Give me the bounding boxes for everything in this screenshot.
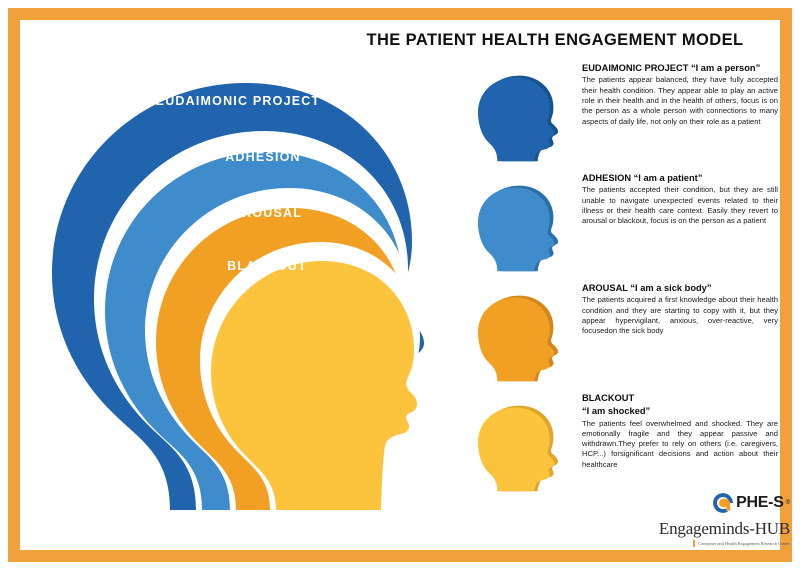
head-profile-icon [478,182,570,274]
stage-heading: ADHESION “I am a patient” [582,172,778,184]
engageminds-hub-subtitle: Consumer and Health Engagement Research … [698,541,790,546]
phes-registered-mark: ® [786,500,790,506]
stage-heading-line1: BLACKOUT [582,392,778,404]
diagram-label-eudaimonic: EUDAIMONIC PROJECT [123,94,353,108]
stage-body: The patients feel overwhelmed and shocke… [582,419,778,471]
stage-body: The patients appear balanced, they have … [582,75,778,127]
stage-item-arousal: AROUSAL “I am a sick body” The patients … [470,282,782,392]
head-profile-icon [478,402,570,494]
orange-tick-icon [693,540,695,547]
stage-item-blackout: BLACKOUT “I am shocked” The patients fee… [470,392,782,502]
head-profile-icon [478,292,570,384]
head-profile-icon [478,72,570,164]
diagram-label-arousal: AROUSAL [152,206,382,220]
stage-heading: AROUSAL “I am a sick body” [582,282,778,294]
stage-body: The patients acquired a first knowledge … [582,295,778,336]
logo-block: PHE-S ® Engageminds-HUB Consumer and Hea… [640,492,790,547]
stage-body: The patients accepted their condition, b… [582,185,778,226]
page-title: THE PATIENT HEALTH ENGAGEMENT MODEL [330,31,780,50]
stage-item-eudaimonic: EUDAIMONIC PROJECT “I am a person” The p… [470,62,782,172]
stage-text-adhesion: ADHESION “I am a patient” The patients a… [582,172,778,227]
poster-canvas: THE PATIENT HEALTH ENGAGEMENT MODEL [0,0,800,570]
engageminds-hub-subtitle-row: Consumer and Health Engagement Research … [640,540,790,547]
stage-list: EUDAIMONIC PROJECT “I am a person” The p… [470,62,782,502]
nested-head-profile-diagram: EUDAIMONIC PROJECT ADHESION AROUSAL BLAC… [20,55,480,515]
diagram-label-adhesion: ADHESION [148,150,378,164]
stage-text-arousal: AROUSAL “I am a sick body” The patients … [582,282,778,337]
engageminds-hub-wordmark: Engageminds-HUB [640,519,790,539]
phes-logo: PHE-S ® [640,492,790,514]
phes-head-icon [712,492,734,514]
stage-text-blackout: BLACKOUT “I am shocked” The patients fee… [582,392,778,470]
stage-text-eudaimonic: EUDAIMONIC PROJECT “I am a person” The p… [582,62,778,127]
diagram-label-blackout: BLACKOUT [152,259,382,273]
stage-heading: EUDAIMONIC PROJECT “I am a person” [582,62,778,74]
stage-item-adhesion: ADHESION “I am a patient” The patients a… [470,172,782,282]
stage-heading-line2: “I am shocked” [582,405,778,417]
phes-wordmark: PHE-S [736,494,783,512]
